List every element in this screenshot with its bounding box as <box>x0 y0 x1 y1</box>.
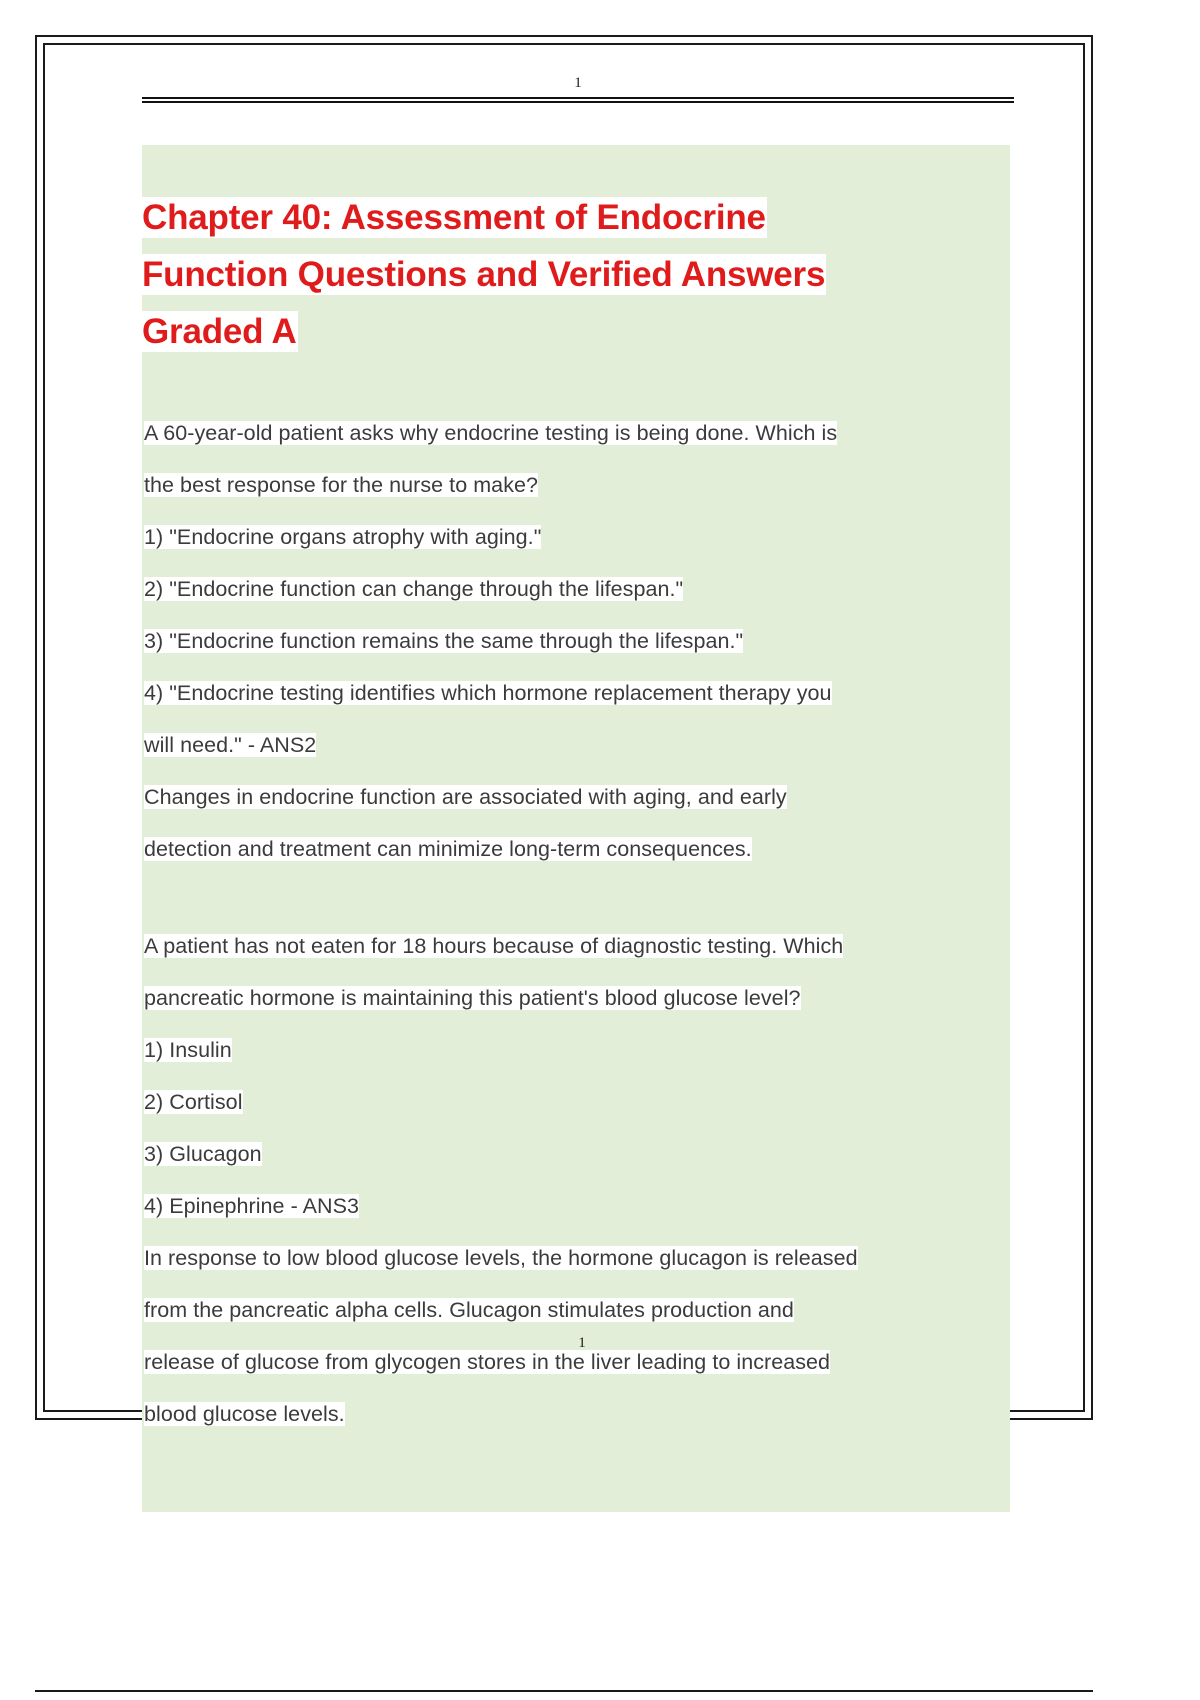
title-line: Chapter 40: Assessment of Endocrine <box>142 195 1010 252</box>
answer-option-line: 4) "Endocrine testing identifies which h… <box>142 671 1010 723</box>
answer-option-line: 2) Cortisol <box>142 1080 1010 1132</box>
line-text: 4) Epinephrine - ANS3 <box>144 1194 359 1218</box>
answer-option-line: 3) "Endocrine function remains the same … <box>142 619 1010 671</box>
page-title: Chapter 40: Assessment of Endocrine Func… <box>142 195 1010 366</box>
question-block-1: A 60-year-old patient asks why endocrine… <box>142 411 1010 879</box>
highlighted-content-block: Chapter 40: Assessment of Endocrine Func… <box>142 145 1010 1512</box>
answer-option-line: 1) Insulin <box>142 1028 1010 1080</box>
block-bottom-spacer <box>142 1444 1010 1490</box>
question-text-line: the best response for the nurse to make? <box>142 463 1010 515</box>
rationale-line: In response to low blood glucose levels,… <box>142 1236 1010 1288</box>
page-bottom-rule <box>35 1690 1093 1692</box>
title-line-text: Function Questions and Verified Answers <box>142 255 825 294</box>
block-top-spacer <box>142 157 1010 195</box>
line-text: 2) Cortisol <box>144 1090 243 1114</box>
page-sheet-outer-border: 1 Chapter 40: Assessment of Endocrine Fu… <box>35 35 1093 1420</box>
line-text: from the pancreatic alpha cells. Glucago… <box>144 1298 794 1322</box>
question-text-line: A patient has not eaten for 18 hours bec… <box>142 924 1010 976</box>
line-text: A 60-year-old patient asks why endocrine… <box>144 421 837 445</box>
header-page-number: 1 <box>142 73 1014 93</box>
spacer-line <box>142 879 1010 924</box>
question-text-line: pancreatic hormone is maintaining this p… <box>142 976 1010 1028</box>
line-text: 1) Insulin <box>144 1038 232 1062</box>
title-line-text: Graded A <box>142 312 297 351</box>
line-text: blood glucose levels. <box>144 1402 345 1426</box>
rationale-line: Changes in endocrine function are associ… <box>142 775 1010 827</box>
footer-page-number: 1 <box>578 1335 586 1352</box>
rationale-line: from the pancreatic alpha cells. Glucago… <box>142 1288 1010 1340</box>
line-text: 3) "Endocrine function remains the same … <box>144 629 743 653</box>
header-divider-rule <box>142 97 1014 103</box>
answer-key-line: 4) Epinephrine - ANS3 <box>142 1184 1010 1236</box>
title-line: Function Questions and Verified Answers <box>142 252 1010 309</box>
line-text: 3) Glucagon <box>144 1142 262 1166</box>
line-text: 1) "Endocrine organs atrophy with aging.… <box>144 525 541 549</box>
spacer-line <box>142 366 1010 411</box>
question-block-2: A patient has not eaten for 18 hours bec… <box>142 924 1010 1444</box>
line-text: the best response for the nurse to make? <box>144 473 538 497</box>
line-text: release of glucose from glycogen stores … <box>144 1350 830 1374</box>
line-text: will need." - ANS2 <box>144 733 316 757</box>
answer-option-line: 1) "Endocrine organs atrophy with aging.… <box>142 515 1010 567</box>
document-header: 1 <box>142 73 1014 103</box>
line-text: In response to low blood glucose levels,… <box>144 1246 858 1270</box>
document-footer: 1 <box>142 1334 1014 1352</box>
page-sheet-inner-border: 1 Chapter 40: Assessment of Endocrine Fu… <box>43 43 1085 1412</box>
answer-option-line: 2) "Endocrine function can change throug… <box>142 567 1010 619</box>
line-text: detection and treatment can minimize lon… <box>144 837 752 861</box>
line-text: pancreatic hormone is maintaining this p… <box>144 986 801 1010</box>
answer-key-line: will need." - ANS2 <box>142 723 1010 775</box>
answer-option-line: 3) Glucagon <box>142 1132 1010 1184</box>
rationale-line: detection and treatment can minimize lon… <box>142 827 1010 879</box>
line-text: A patient has not eaten for 18 hours bec… <box>144 934 843 958</box>
line-text: 4) "Endocrine testing identifies which h… <box>144 681 832 705</box>
title-line: Graded A <box>142 309 1010 366</box>
line-text: 2) "Endocrine function can change throug… <box>144 577 683 601</box>
line-text: Changes in endocrine function are associ… <box>144 785 787 809</box>
question-text-line: A 60-year-old patient asks why endocrine… <box>142 411 1010 463</box>
title-line-text: Chapter 40: Assessment of Endocrine <box>142 198 766 237</box>
rationale-line: blood glucose levels. <box>142 1392 1010 1444</box>
